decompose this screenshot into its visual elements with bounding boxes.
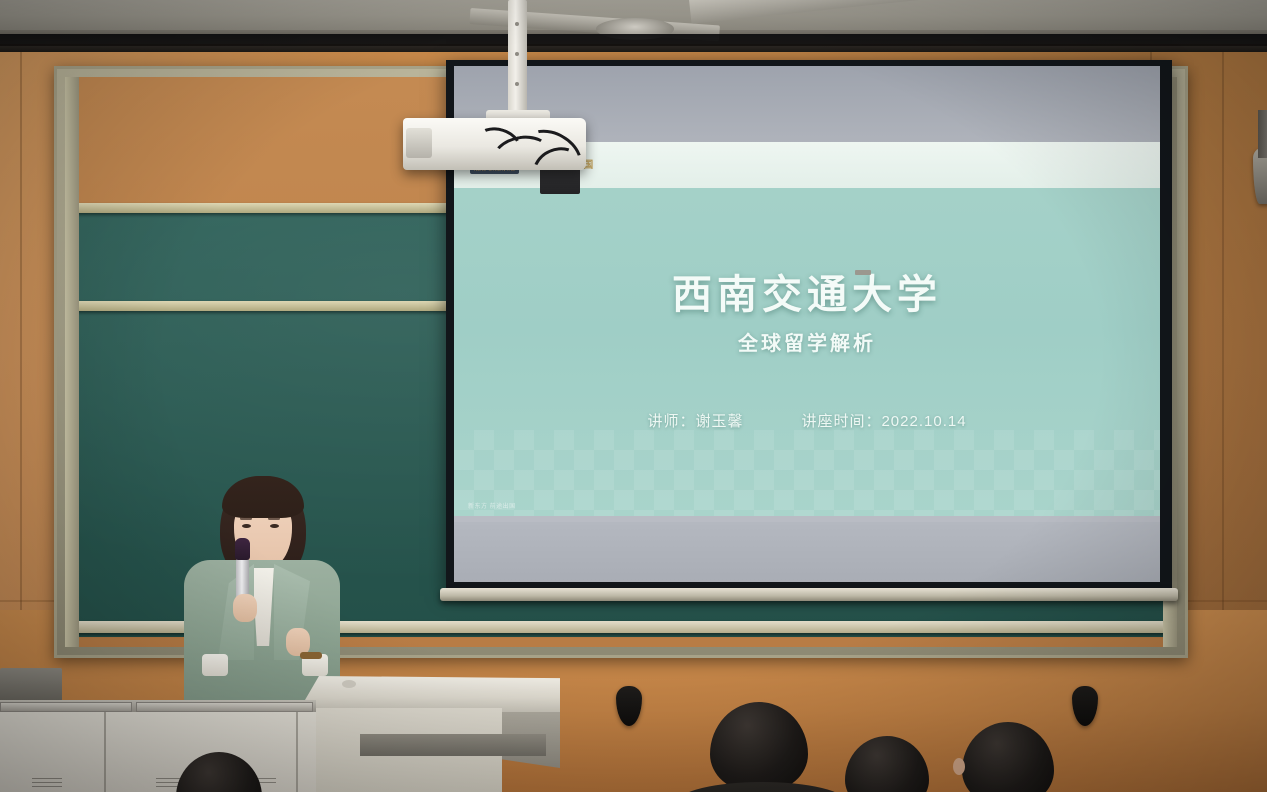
lectern-top-surface [298, 676, 560, 712]
equipment-cabinet [0, 700, 316, 792]
eyebrow [268, 517, 280, 520]
blackboard-frame-post [65, 77, 79, 647]
eye [242, 524, 251, 528]
wristwatch [300, 652, 322, 659]
screen-weight-bar [440, 588, 1178, 601]
wall-bracket [1258, 110, 1267, 158]
microphone-head-icon [235, 538, 250, 560]
audience-ear [953, 758, 965, 775]
mount-screw-icon [515, 52, 519, 56]
screen-unlit-bottom [454, 522, 1160, 582]
slide-subtitle: 全球留学解析 [454, 327, 1160, 356]
lecture-hall-photo: 新东方 NEW ORIENTAL 前途出国 西南交通大学 全球留学解析 讲师：谢… [0, 0, 1267, 792]
slide-lecturer: 讲师：谢玉馨 [647, 410, 743, 431]
projector-lens [406, 128, 432, 158]
cabinet-trim-strip [136, 702, 313, 712]
slide-footnote: 新东方 前途出国 [468, 501, 516, 510]
shirt-cuff [202, 654, 228, 676]
eyebrow [240, 517, 252, 520]
desk-monitor [0, 668, 62, 702]
cabinet-door-seam [296, 712, 298, 792]
eye [270, 524, 279, 528]
cabinet-vent-slot [32, 778, 62, 779]
lectern-knob [342, 680, 356, 688]
cabinet-door-seam [104, 712, 106, 792]
projector-mount-pole [508, 0, 527, 112]
cabinet-vent-slot [32, 782, 62, 783]
lectern [298, 676, 560, 792]
cabinet-body [0, 712, 316, 792]
slide-datetime: 讲座时间：2022.10.14 [801, 410, 966, 431]
presenter-bangs [222, 476, 304, 518]
cabinet-vent-slot [32, 786, 62, 787]
slide-meta-row: 讲师：谢玉馨 讲座时间：2022.10.14 [454, 410, 1160, 431]
mount-screw-icon [515, 82, 519, 86]
projector-cables [470, 126, 600, 190]
cabinet-trim-strip [0, 702, 132, 712]
slide-checker-pattern [454, 430, 1160, 516]
mount-screw-icon [515, 22, 519, 26]
lectern-shelf [360, 734, 546, 756]
presenter-hand [233, 594, 257, 622]
slide-title: 西南交通大学 [454, 262, 1160, 320]
presentation-slide: 新东方 NEW ORIENTAL 前途出国 西南交通大学 全球留学解析 讲师：谢… [454, 142, 1160, 516]
projector-vent [855, 270, 871, 275]
